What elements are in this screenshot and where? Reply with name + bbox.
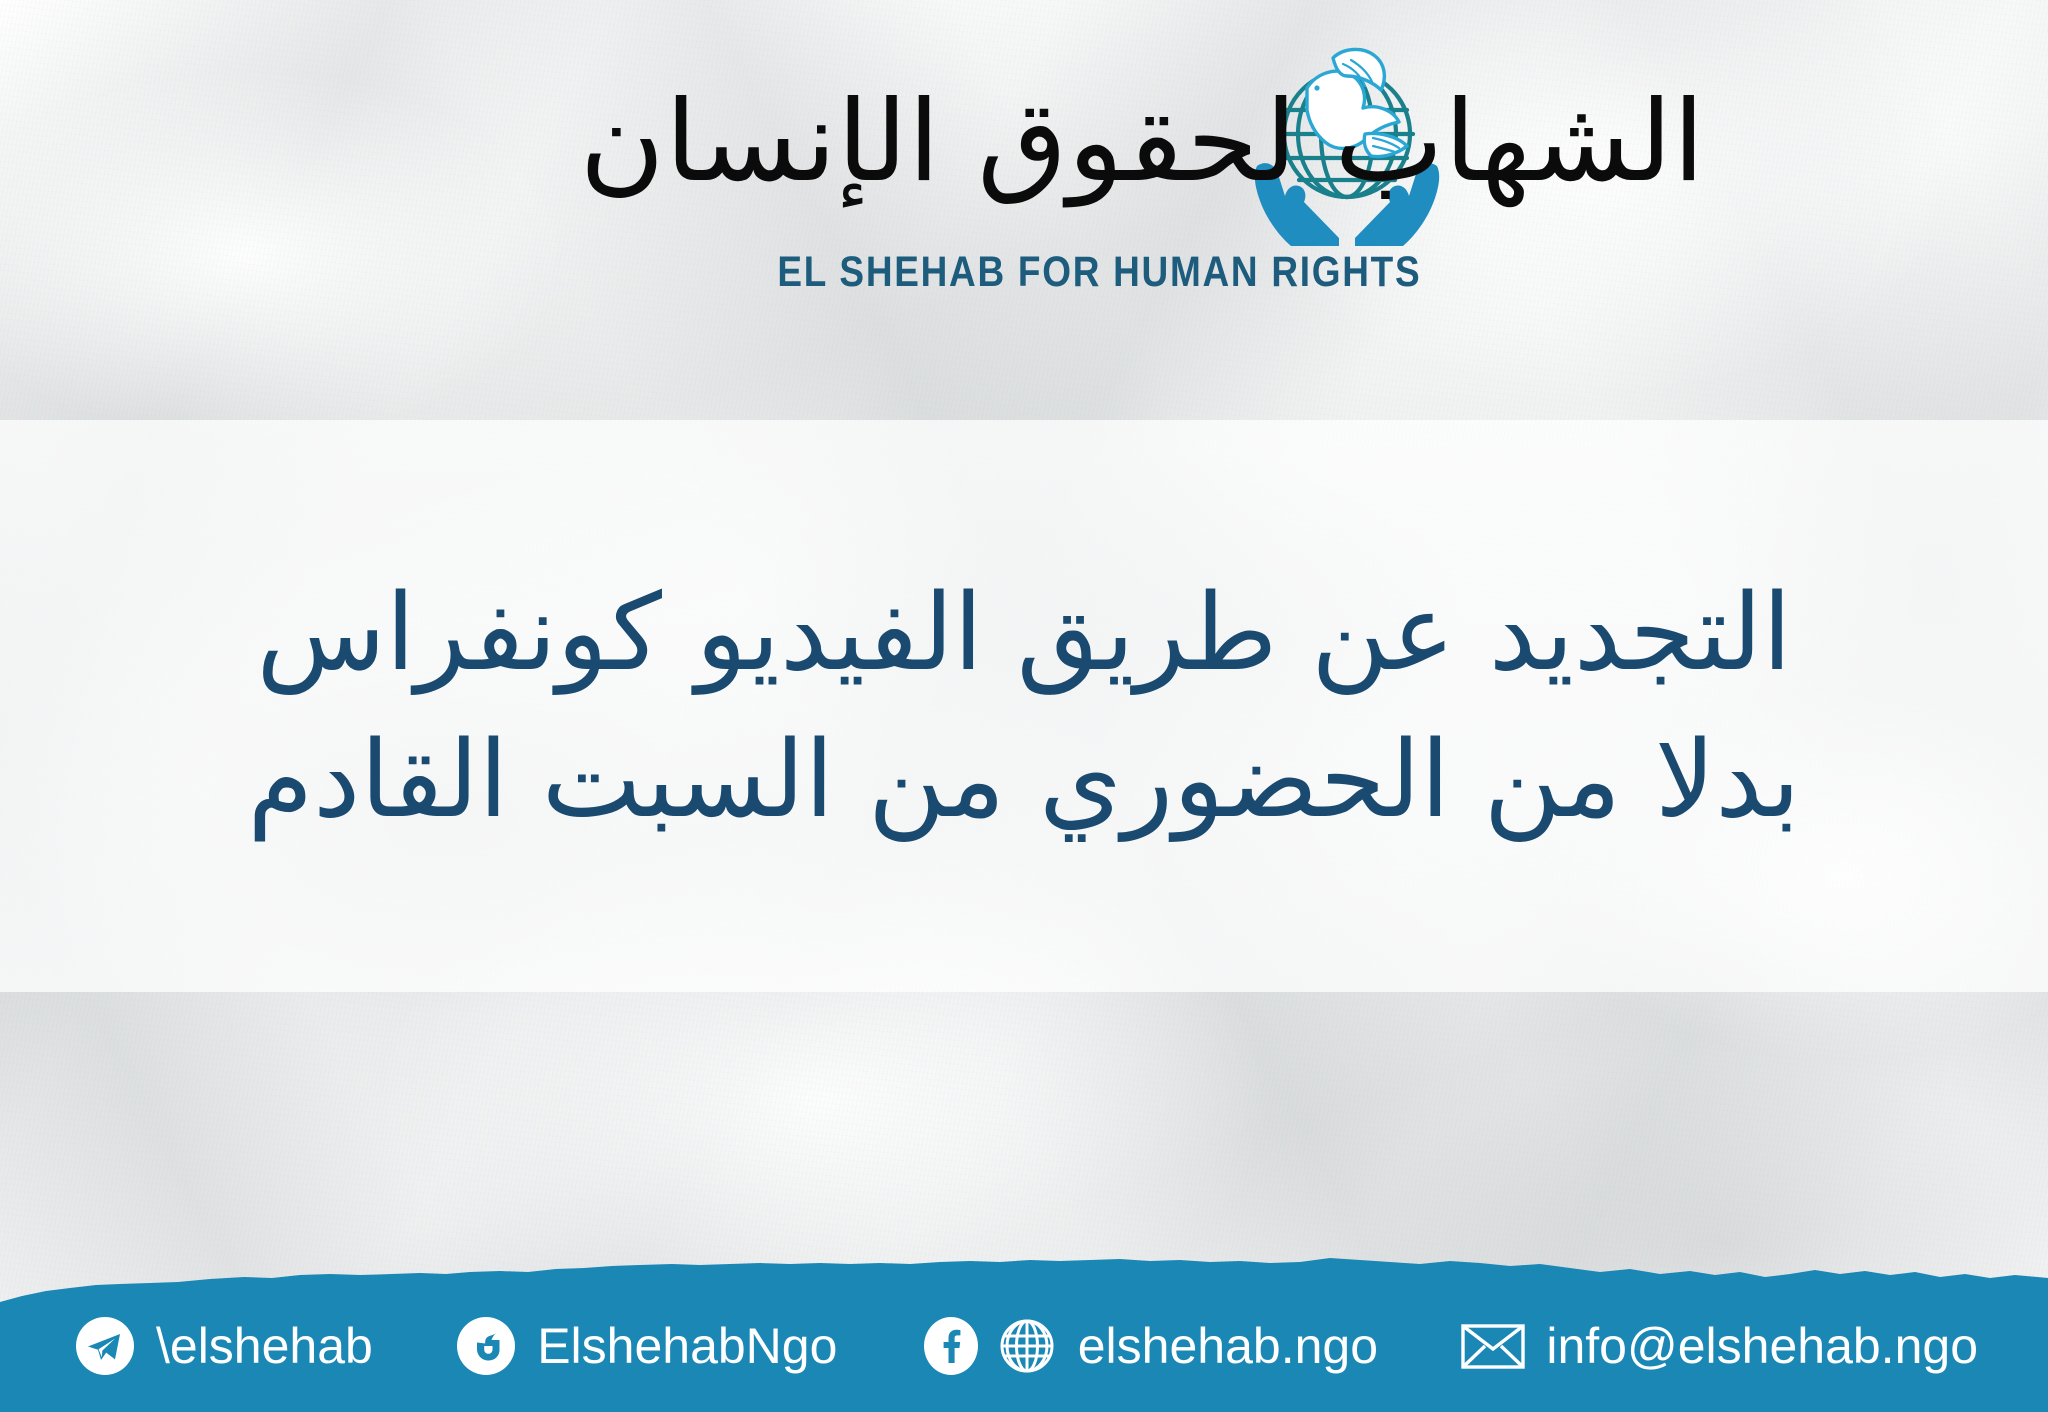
- website-icon-group: [920, 1315, 1058, 1377]
- footer-bar: \elshehab ElshehabNgo: [0, 1244, 2048, 1412]
- email-icon-group: [1460, 1320, 1526, 1372]
- logo-block: الشهاب لحقوق الإنسان: [0, 38, 2048, 297]
- website-url: elshehab.ngo: [1078, 1317, 1378, 1375]
- twitter-handle: ElshehabNgo: [537, 1317, 837, 1375]
- headline-line-2: بدلا من الحضوري من السبت القادم: [208, 717, 1841, 842]
- footer-contact-twitter[interactable]: ElshehabNgo: [455, 1315, 837, 1377]
- twitter-icon-group: [455, 1315, 517, 1377]
- facebook-icon[interactable]: [920, 1315, 982, 1377]
- logo-arabic-wordmark: الشهاب لحقوق الإنسان: [601, 53, 1221, 231]
- footer-contact-telegram[interactable]: \elshehab: [74, 1315, 373, 1377]
- organization-arabic-name: الشهاب لحقوق الإنسان: [579, 86, 1705, 198]
- headline-line-1: التجديد عن طريق الفيديو كونفراس: [216, 570, 1831, 695]
- telegram-icon[interactable]: [74, 1315, 136, 1377]
- logo-row: الشهاب لحقوق الإنسان: [601, 38, 1447, 246]
- telegram-icon-group: [74, 1315, 136, 1377]
- poster-canvas: الشهاب لحقوق الإنسان: [0, 0, 2048, 1412]
- footer-contacts: \elshehab ElshehabNgo: [0, 1280, 2048, 1412]
- globe-icon[interactable]: [996, 1315, 1058, 1377]
- telegram-handle: \elshehab: [156, 1317, 373, 1375]
- email-icon[interactable]: [1460, 1320, 1526, 1372]
- logo-lockup: الشهاب لحقوق الإنسان: [575, 38, 1474, 297]
- organization-english-name: EL SHEHAB FOR HUMAN RIGHTS: [777, 248, 1421, 297]
- footer-contact-website[interactable]: elshehab.ngo: [920, 1315, 1378, 1377]
- email-address: info@elshehab.ngo: [1546, 1317, 1978, 1375]
- footer-contact-email[interactable]: info@elshehab.ngo: [1460, 1317, 1978, 1375]
- twitter-icon[interactable]: [455, 1315, 517, 1377]
- headline-block: التجديد عن طريق الفيديو كونفراس بدلا من …: [0, 420, 2048, 992]
